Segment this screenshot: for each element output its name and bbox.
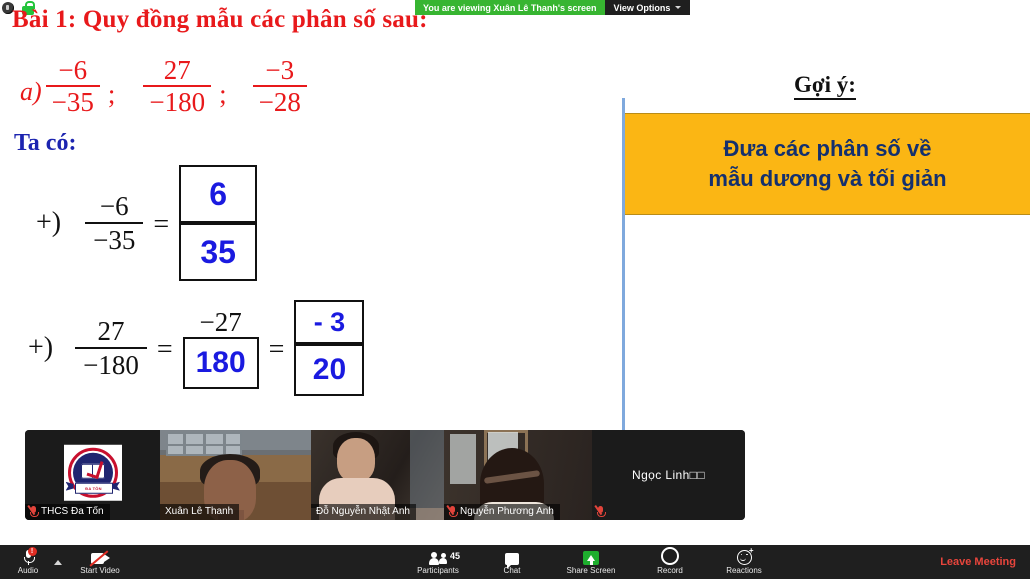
chat-button[interactable]: Chat (484, 545, 540, 579)
step-2-given-denominator: −180 (75, 347, 147, 381)
mute-mic-icon (449, 506, 456, 517)
toolbar-right-group: Leave Meeting (940, 545, 1016, 579)
step-2-middle-numerator: −27 (183, 307, 259, 337)
participant-tile-5[interactable]: Ngọc Linh□□ (592, 430, 745, 520)
view-options-button[interactable]: View Options (605, 0, 691, 15)
fraction-1-numerator: −6 (46, 55, 100, 85)
fraction-3-denominator: −28 (253, 85, 307, 117)
step-1-given-numerator: −6 (85, 190, 143, 222)
school-logo-caption: ĐA TÔN (85, 486, 101, 491)
chat-icon (505, 550, 519, 565)
toolbar-left-group: ! Audio Start Video (8, 545, 132, 579)
share-screen-icon (583, 550, 599, 565)
problem-statement: a) −6 −35 ; 27 −180 ; −3 −28 (20, 55, 400, 120)
share-screen-label: Share Screen (567, 566, 616, 575)
step-2-given-numerator: 27 (75, 315, 147, 347)
participants-label: Participants (417, 566, 459, 575)
hint-line-2: mẫu dương và tối giản (708, 164, 946, 194)
participants-button[interactable]: 45 Participants (410, 545, 466, 579)
meeting-toolbar: ! Audio Start Video 45 (0, 545, 1030, 579)
step-1-equals: = (147, 209, 175, 241)
step-1-answer-numerator: 6 (179, 165, 257, 223)
participant-name-1-label: THCS Đa Tốn (41, 506, 104, 517)
page-title: Bài 1: Quy đồng mẫu các phân số sau: (12, 6, 428, 34)
participant-tile-3[interactable]: Đỗ Nguyễn Nhật Anh (311, 430, 444, 520)
participant-name-4-label: Nguyễn Phương Anh (460, 506, 554, 517)
toolbar-center-group: 45 Participants Chat Share Screen Record… (410, 545, 772, 579)
separator-2: ; (215, 79, 231, 110)
record-label: Record (657, 566, 683, 575)
step-1-given-fraction: −6 −35 (85, 190, 143, 256)
viewing-screen-label: You are viewing Xuân Lê Thanh's screen (415, 0, 605, 15)
problem-label: a) (20, 77, 42, 107)
step-1-answer-denominator: 35 (179, 223, 257, 281)
step-2-middle-fraction: −27 180 (183, 307, 259, 389)
solution-step-2: +) 27 −180 = −27 180 = - 3 20 (28, 300, 364, 396)
reactions-button[interactable]: + Reactions (716, 545, 772, 579)
fraction-2: 27 −180 (143, 55, 211, 117)
step-1-answer-fraction: 6 35 (179, 165, 257, 281)
step-2-answer-numerator: - 3 (294, 300, 364, 344)
participant-name-3: Đỗ Nguyễn Nhật Anh (311, 504, 416, 520)
hint-text: Đưa các phân số về mẫu dương và tối giản (708, 134, 946, 194)
school-logo-icon: ĐA TÔN (64, 445, 122, 501)
participant-name-2-label: Xuân Lê Thanh (165, 506, 233, 517)
step-1-bullet: +) (36, 207, 61, 239)
participant-tile-2[interactable]: Xuân Lê Thanh (160, 430, 311, 520)
fraction-2-numerator: 27 (143, 55, 211, 85)
participants-icon: 45 (429, 550, 447, 565)
share-screen-button[interactable]: Share Screen (558, 545, 624, 579)
step-2-bullet: +) (28, 332, 53, 364)
audio-alert-badge: ! (28, 547, 37, 556)
fraction-1-denominator: −35 (46, 85, 100, 117)
participant-name-3-label: Đỗ Nguyễn Nhật Anh (316, 506, 410, 517)
participant-name-5 (592, 504, 610, 520)
chevron-up-icon (54, 560, 62, 565)
participant-tile-1[interactable]: ĐA TÔN THCS Đa Tốn (25, 430, 160, 520)
hint-title-text: Gợi ý: (794, 72, 856, 100)
participant-filmstrip[interactable]: ĐA TÔN THCS Đa Tốn Xuân Lê Thanh (25, 430, 745, 520)
zoom-meeting-window: Bài 1: Quy đồng mẫu các phân số sau: a) … (0, 0, 1030, 579)
fraction-1: −6 −35 (46, 55, 100, 117)
participants-count: 45 (450, 551, 460, 561)
participant-name-1: THCS Đa Tốn (25, 504, 110, 520)
record-icon (661, 550, 679, 565)
fraction-2-denominator: −180 (143, 85, 211, 117)
step-2-answer-fraction: - 3 20 (294, 300, 364, 396)
step-2-middle-denominator: 180 (183, 337, 259, 389)
participant-name-4: Nguyễn Phương Anh (444, 504, 560, 520)
record-button[interactable]: Record (642, 545, 698, 579)
mute-mic-icon (30, 506, 37, 517)
mute-mic-icon (597, 506, 604, 517)
reactions-label: Reactions (726, 566, 762, 575)
step-1-given-denominator: −35 (85, 222, 143, 256)
fraction-3: −3 −28 (253, 55, 307, 117)
screen-share-banner: You are viewing Xuân Lê Thanh's screen V… (415, 0, 690, 15)
solution-step-1: +) −6 −35 = 6 35 (36, 165, 257, 281)
start-video-label: Start Video (80, 566, 119, 575)
step-2-answer-denominator: 20 (294, 344, 364, 396)
microphone-icon: ! (24, 550, 33, 565)
work-lead-text: Ta có: (14, 130, 76, 157)
audio-label: Audio (18, 566, 38, 575)
audio-options-button[interactable] (50, 545, 66, 579)
audio-button[interactable]: ! Audio (8, 545, 48, 579)
camera-off-icon (91, 550, 110, 565)
start-video-button[interactable]: Start Video (68, 545, 132, 579)
separator-1: ; (104, 79, 120, 110)
participant-tile-4[interactable]: Nguyễn Phương Anh (444, 430, 592, 520)
hint-box: Đưa các phân số về mẫu dương và tối giản (625, 113, 1030, 215)
reactions-icon: + (737, 550, 752, 565)
step-2-equals-2: = (263, 334, 291, 366)
view-options-label: View Options (614, 3, 671, 13)
participant-name-5-label: Ngọc Linh□□ (592, 430, 745, 520)
leave-meeting-button[interactable]: Leave Meeting (940, 556, 1016, 568)
participant-name-2: Xuân Lê Thanh (160, 504, 239, 520)
hint-line-1: Đưa các phân số về (708, 134, 946, 164)
hint-title: Gợi ý: (625, 72, 1025, 98)
fraction-3-numerator: −3 (253, 55, 307, 85)
step-2-given-fraction: 27 −180 (75, 315, 147, 381)
step-2-equals: = (151, 334, 179, 366)
chevron-down-icon (675, 6, 681, 9)
